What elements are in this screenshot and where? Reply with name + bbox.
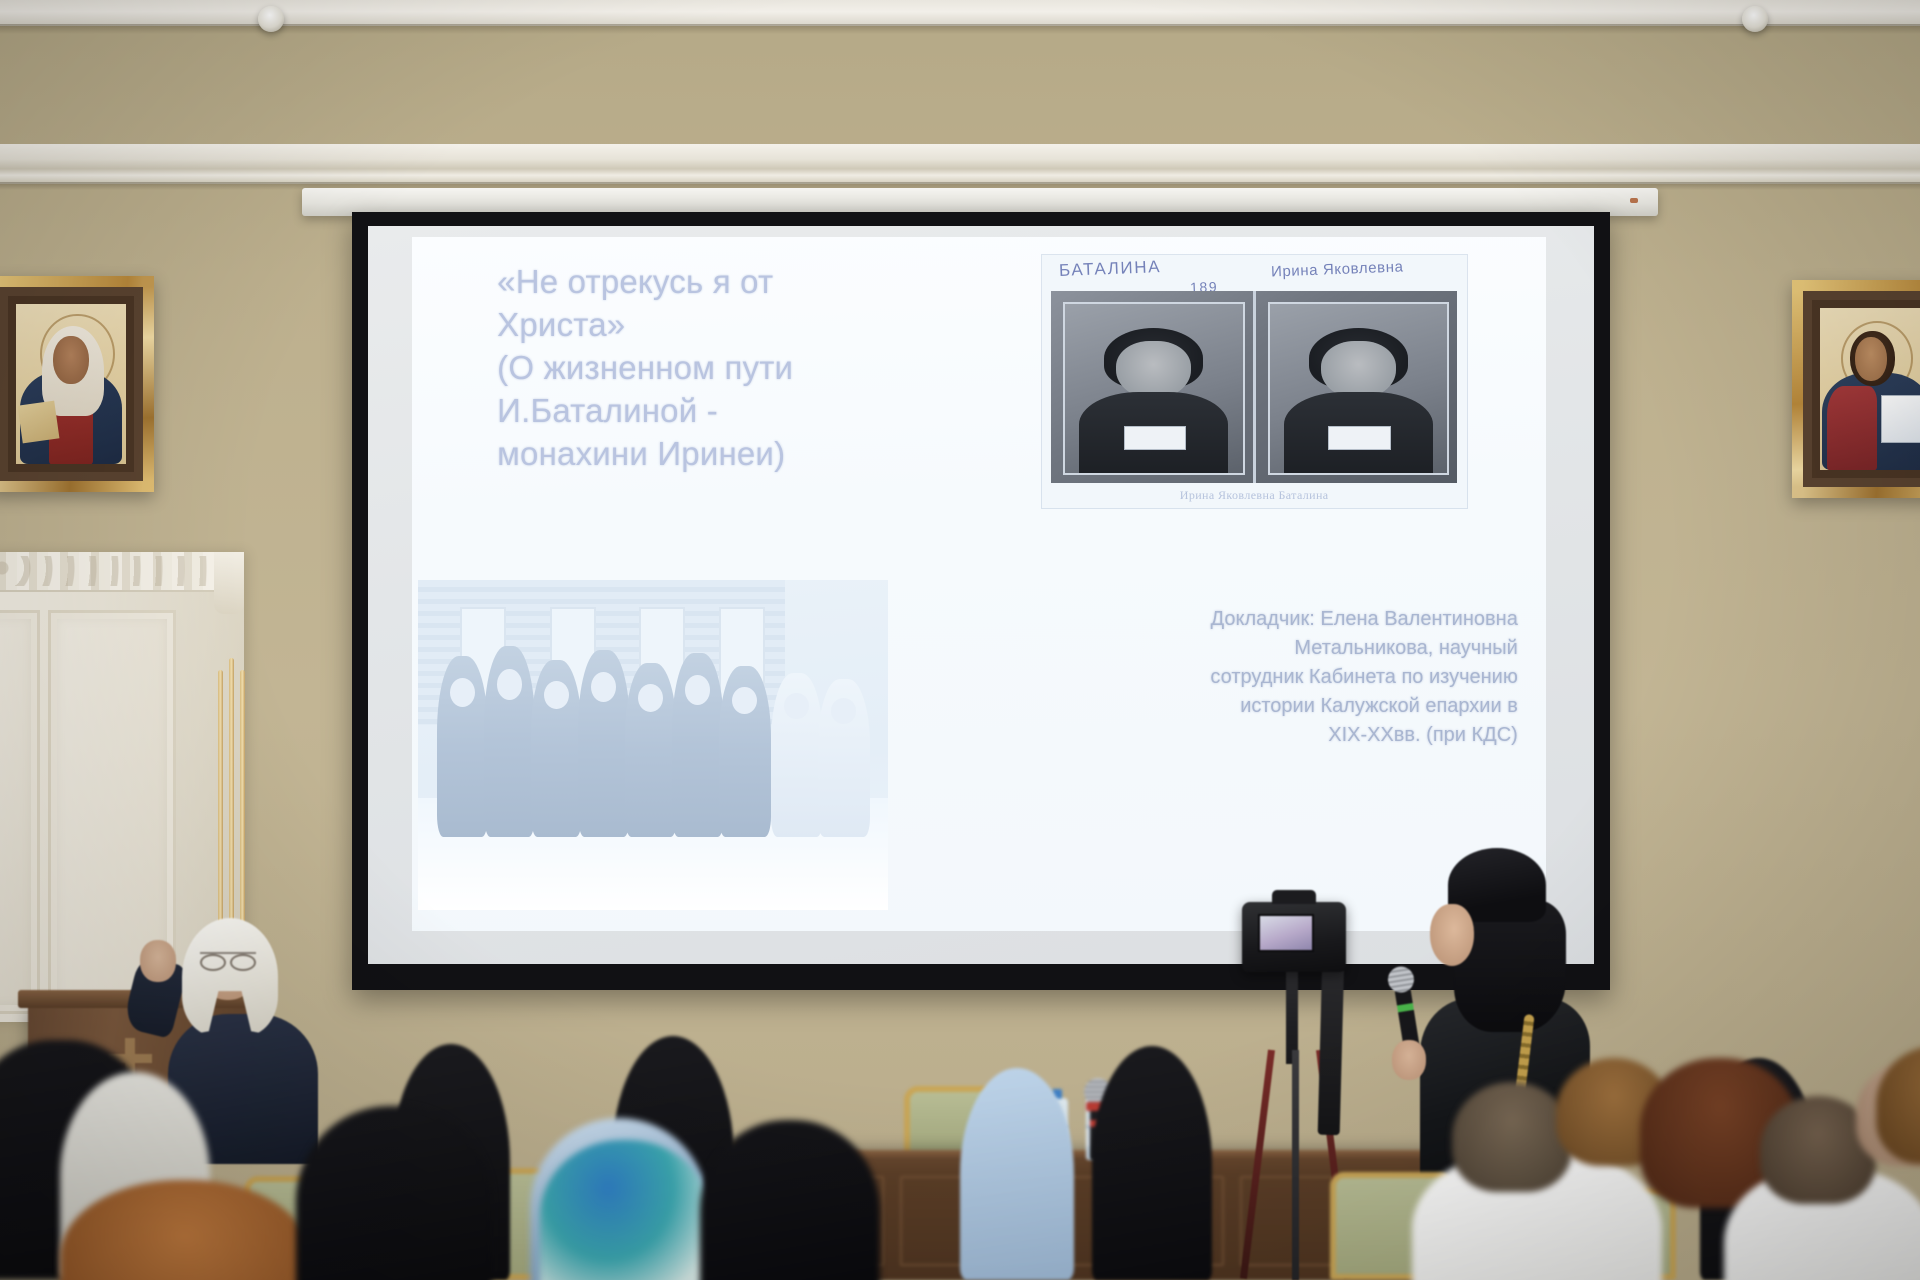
mugshot-profile: [1051, 291, 1253, 483]
presenter-line-1: Докладчик: Елена Валентиновна: [1030, 605, 1518, 634]
group-nun-1: [437, 656, 489, 837]
slide-title-line-1: «Не отрекусь я от: [497, 261, 1019, 304]
group-nun-9: [818, 679, 870, 837]
camera-strap: [1318, 955, 1345, 1136]
presenter-credit: Докладчик: Елена Валентиновна Метальнико…: [1030, 605, 1518, 750]
carved-frieze: [0, 552, 214, 592]
speaker-raised-hand: [140, 940, 176, 982]
group-nun-3: [531, 660, 583, 838]
slide-title: «Не отрекусь я от Христа» (О жизненном п…: [497, 261, 1019, 475]
group-nun-6: [672, 653, 724, 838]
audience-headscarf-blue: [960, 1068, 1074, 1280]
audience-nun-3: [1092, 1046, 1212, 1280]
christ-robe: [1827, 386, 1877, 470]
group-nun-5: [625, 663, 677, 838]
cornice-molding: [0, 144, 1920, 184]
presentation-slide: «Не отрекусь я от Христа» (О жизненном п…: [412, 237, 1546, 931]
slide-title-line-4: И.Баталиной -: [497, 390, 1019, 433]
ceiling-spotlight-left: [258, 6, 284, 32]
ceiling-spotlight-right: [1742, 6, 1768, 32]
screen-case-marking: [1630, 198, 1638, 203]
screenshot-root: «Не отрекусь я от Христа» (О жизненном п…: [0, 0, 1920, 1280]
theotokos-book: [18, 401, 60, 444]
icon-mat-left: [8, 296, 134, 472]
audience-nun-foreground: [296, 1106, 492, 1280]
group-nun-2: [484, 646, 536, 837]
handwriting-given-name: Ирина Яковлевна: [1271, 259, 1404, 281]
monastic-hand: [1392, 1040, 1426, 1080]
monastic-face: [1430, 904, 1474, 966]
door-panel-left: [0, 610, 40, 1014]
icon-image-pantocrator: [1820, 308, 1920, 470]
camera-lcd-screen: [1258, 914, 1314, 952]
mugshot-face-left: [1116, 341, 1191, 399]
mugshot-face-right: [1321, 341, 1396, 399]
group-nun-7: [719, 666, 771, 837]
theotokos-face: [53, 336, 88, 384]
slide-title-line-3: (О жизненном пути: [497, 347, 1019, 390]
mugshot-caption: Ирина Яковлевна Баталина: [1042, 488, 1467, 503]
slide-title-line-5: монахини Иринеи): [497, 433, 1019, 476]
audience-patterned-headscarf: [540, 1140, 710, 1280]
mugshot-pair: [1051, 291, 1458, 483]
mugshot-card-left: [1063, 302, 1245, 475]
mugshot-tag-right: [1328, 426, 1390, 450]
camera-viewfinder-hump: [1272, 890, 1316, 904]
mugshot-frontal: [1253, 291, 1458, 483]
historical-group-photo: [418, 580, 889, 910]
icon-mat-right: [1812, 300, 1920, 478]
christ-gospel-book: [1881, 395, 1920, 442]
presenter-line-3: сотрудник Кабинета по изучению: [1030, 663, 1518, 692]
ceiling: [0, 0, 1920, 26]
icon-image-theotokos: [16, 304, 126, 464]
presenter-line-4: истории Калужской епархии в: [1030, 692, 1518, 721]
speaker-glasses: [200, 952, 256, 967]
mugshot-photo-block: БАТАЛИНА Ирина Яковлевна 189: [1042, 255, 1467, 508]
audience-head-boy-1: [1452, 1082, 1572, 1192]
mic-green-band: [1397, 1003, 1414, 1012]
group-nun-8: [771, 673, 823, 838]
icon-frame-pantocrator: [1792, 280, 1920, 498]
presenter-line-5: XIX-XXвв. (при КДС): [1030, 721, 1518, 750]
tripod-leg-center: [1292, 1050, 1299, 1280]
group-nun-4: [578, 650, 630, 838]
presenter-line-2: Метальникова, научный: [1030, 634, 1518, 663]
mugshot-tag-left: [1124, 426, 1186, 450]
mugshot-card-right: [1268, 302, 1450, 475]
handwriting-surname: БАТАЛИНА: [1058, 257, 1161, 281]
christ-face: [1855, 337, 1887, 381]
corbel-bracket: [214, 552, 244, 614]
slide-title-line-2: Христа»: [497, 304, 1019, 347]
icon-frame-theotokos: [0, 276, 154, 492]
audience-nun-foreground-right: [700, 1120, 880, 1280]
screen-surface: «Не отрекусь я от Христа» (О жизненном п…: [368, 226, 1594, 964]
dslr-camera: [1242, 902, 1346, 972]
ceiling-shadow: [0, 24, 1920, 34]
